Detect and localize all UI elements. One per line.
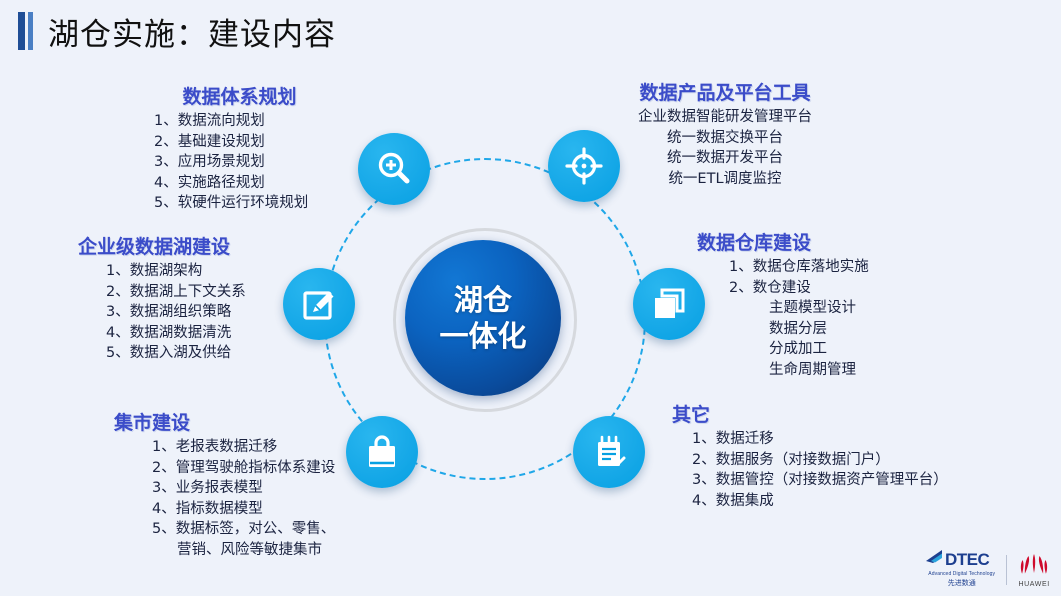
node-enterprise-data-lake[interactable]	[283, 268, 355, 340]
dtec-chinese-name: 先进数通	[925, 578, 998, 588]
page-title: 湖仓实施：建设内容	[48, 9, 336, 54]
huawei-wordmark: HUAWEI	[1015, 581, 1053, 588]
list-item: 1、数据迁移	[692, 429, 992, 450]
center-hub: 湖仓 一体化	[405, 240, 561, 396]
center-line-2: 一体化	[439, 319, 526, 353]
section-enterprise-data-lake: 企业级数据湖建设 1、数据湖架构 2、数据湖上下文关系 3、数据湖组织策略 4、…	[78, 232, 308, 364]
magnifier-plus-icon	[374, 149, 414, 189]
list-item: 5、数据标签，对公、零售、	[152, 519, 364, 540]
dtec-wordmark: DTEC	[945, 551, 989, 568]
section-list: 1、数据仓库落地实施 2、数仓建设 主题模型设计 数据分层 分成加工 生命周期管…	[697, 257, 957, 380]
center-line-1: 湖仓	[454, 283, 512, 317]
list-item: 主题模型设计	[729, 298, 957, 319]
center-hub-label: 湖仓 一体化	[439, 282, 526, 354]
section-heading: 数据仓库建设	[697, 228, 957, 255]
accent-bar-dark	[18, 12, 25, 50]
node-data-warehouse[interactable]	[633, 268, 705, 340]
node-other[interactable]	[573, 416, 645, 488]
edit-pencil-icon	[299, 284, 339, 324]
dtec-wordmark-row: DTEC	[925, 549, 998, 570]
dtec-tagline: Advanced Digital Technology	[925, 571, 998, 577]
list-item: 5、数据入湖及供给	[106, 343, 308, 364]
footer-logos: DTEC Advanced Digital Technology 先进数通 HU…	[925, 548, 1053, 592]
huawei-flower-icon	[1019, 562, 1049, 579]
dtec-logo: DTEC Advanced Digital Technology 先进数通	[925, 549, 998, 591]
section-data-warehouse: 数据仓库建设 1、数据仓库落地实施 2、数仓建设 主题模型设计 数据分层 分成加…	[697, 228, 957, 380]
dtec-arrow-icon	[925, 549, 945, 570]
shopping-bag-icon	[362, 432, 402, 472]
list-item: 4、数据集成	[692, 491, 992, 512]
section-list: 1、数据湖架构 2、数据湖上下文关系 3、数据湖组织策略 4、数据湖数据清洗 5…	[78, 261, 308, 364]
list-item: 企业数据智能研发管理平台	[580, 107, 870, 128]
accent-bar-light	[28, 12, 33, 50]
logo-divider	[1006, 555, 1007, 585]
list-item: 数据分层	[729, 319, 957, 340]
list-item: 营销、风险等敏捷集市	[152, 540, 364, 561]
copy-layers-icon	[649, 284, 689, 324]
node-data-mart[interactable]	[346, 416, 418, 488]
list-item: 2、数据服务（对接数据门户）	[692, 450, 992, 471]
list-item: 分成加工	[729, 339, 957, 360]
list-item: 1、数据湖架构	[106, 261, 308, 282]
list-item: 生命周期管理	[729, 360, 957, 381]
list-item: 3、数据管控（对接数据资产管理平台）	[692, 470, 992, 491]
node-data-products-platform-tools[interactable]	[548, 130, 620, 202]
section-heading: 数据体系规划	[112, 82, 367, 109]
section-heading: 企业级数据湖建设	[78, 232, 308, 259]
page-header: 湖仓实施：建设内容	[0, 0, 1061, 62]
list-item: 2、数据湖上下文关系	[106, 282, 308, 303]
list-item: 1、数据仓库落地实施	[729, 257, 957, 278]
hub-and-spoke-diagram: 湖仓 一体化	[288, 128, 728, 508]
title-accent-bars	[18, 12, 34, 50]
list-item: 3、数据湖组织策略	[106, 302, 308, 323]
section-heading: 数据产品及平台工具	[580, 78, 870, 105]
huawei-logo: HUAWEI	[1015, 553, 1053, 588]
list-item: 4、数据湖数据清洗	[106, 323, 308, 344]
notepad-check-icon	[589, 432, 629, 472]
list-item: 2、数仓建设	[729, 278, 957, 299]
crosshair-target-icon	[564, 146, 604, 186]
node-data-system-planning[interactable]	[358, 133, 430, 205]
